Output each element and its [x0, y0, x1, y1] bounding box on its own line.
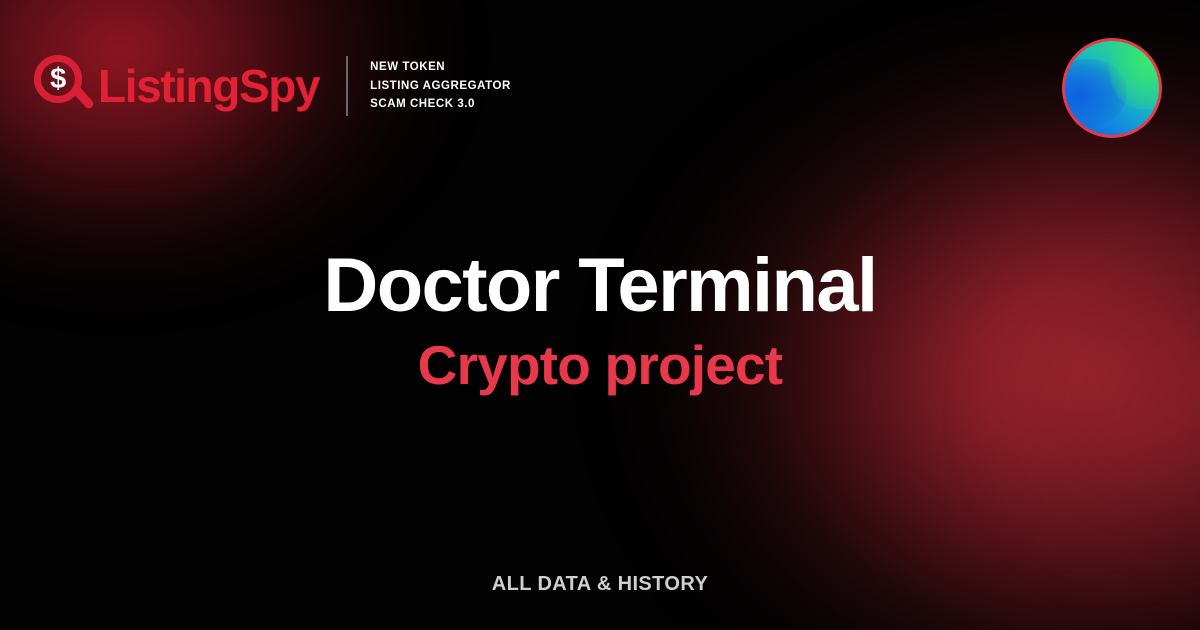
brand-header: $ ListingSpy NEW TOKEN LISTING AGGREGATO…	[34, 55, 511, 117]
page-title: Doctor Terminal	[0, 248, 1200, 324]
tagline-line-2: LISTING AGGREGATOR	[370, 77, 511, 96]
globe-token-icon	[1062, 38, 1162, 138]
tagline-line-1: NEW TOKEN	[370, 58, 511, 77]
magnifier-dollar-icon: $	[34, 55, 92, 117]
brand-tagline: NEW TOKEN LISTING AGGREGATOR SCAM CHECK …	[370, 58, 511, 114]
footer: ALL DATA & HISTORY	[0, 573, 1200, 596]
hero-title-block: Doctor Terminal Crypto project	[0, 248, 1200, 393]
dollar-sign-glyph: $	[34, 55, 82, 103]
logo-lockup[interactable]: $ ListingSpy	[34, 55, 319, 117]
promo-card: $ ListingSpy NEW TOKEN LISTING AGGREGATO…	[0, 0, 1200, 630]
brand-wordmark: ListingSpy	[98, 63, 319, 109]
footer-text: ALL DATA & HISTORY	[492, 573, 708, 595]
tagline-line-3: SCAM CHECK 3.0	[370, 95, 511, 114]
brand-wordmark-part1: Listing	[98, 60, 239, 112]
header-divider	[346, 56, 348, 116]
page-subtitle: Crypto project	[0, 338, 1200, 393]
brand-wordmark-part2: Spy	[239, 60, 319, 112]
